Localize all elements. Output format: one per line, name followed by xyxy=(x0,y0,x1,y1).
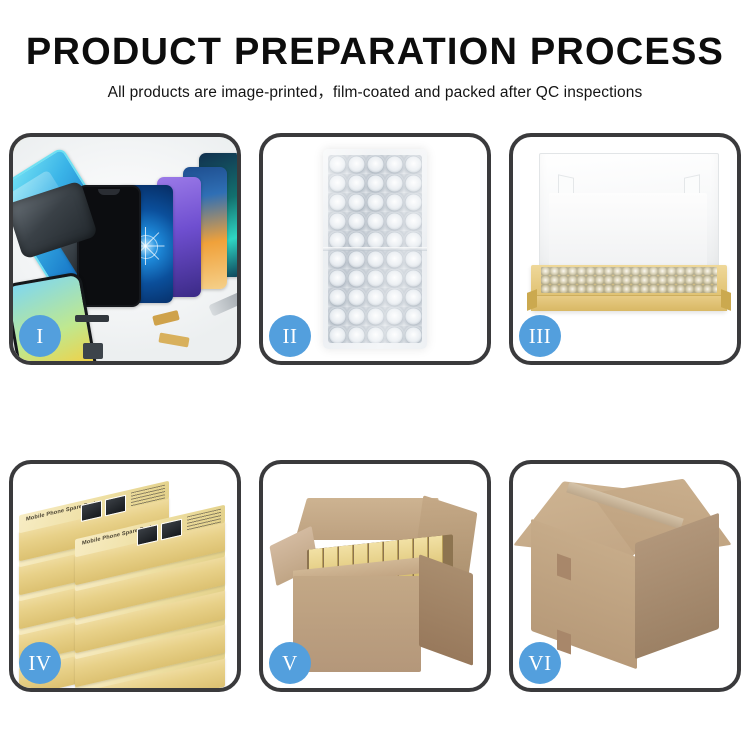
tray-front-lip xyxy=(531,295,727,311)
bubble-wrapped-contents xyxy=(541,267,717,293)
step-badge-2: II xyxy=(269,315,311,357)
page-subtitle: All products are image-printed，film-coat… xyxy=(0,82,750,104)
step-badge-5: V xyxy=(269,642,311,684)
box-screen-graphic-2 xyxy=(161,519,182,541)
bubble-wrap-package-icon xyxy=(323,149,427,349)
step-panel-6: VI xyxy=(509,460,741,692)
step-badge-6: VI xyxy=(519,642,561,684)
process-steps-grid: I II III xyxy=(9,133,741,692)
step-badge-3: III xyxy=(519,315,561,357)
speaker-strip-part-icon xyxy=(75,315,109,322)
step-panel-2: II xyxy=(259,133,491,365)
connector-part-icon xyxy=(83,343,103,359)
step-panel-1: I xyxy=(9,133,241,365)
tray-edge-right xyxy=(721,289,731,311)
packing-tape-front-upper xyxy=(557,553,571,580)
tray-edge-left xyxy=(527,289,537,311)
box-screen-graphic-2 xyxy=(105,495,126,517)
page-header: PRODUCT PREPARATION PROCESS All products… xyxy=(0,0,750,104)
step-badge-1: I xyxy=(19,315,61,357)
wrap-film-sheen xyxy=(323,149,427,349)
box-screen-graphic-1 xyxy=(81,500,102,522)
inner-box-tray-icon xyxy=(531,265,727,311)
step-panel-4: Mobile Phone Spare Parts Mobile Phone Sp… xyxy=(9,460,241,692)
box-screen-graphic-1 xyxy=(137,524,158,546)
step-panel-3: III xyxy=(509,133,741,365)
carton-side-face xyxy=(419,554,473,666)
foam-sheet-icon xyxy=(549,193,707,267)
carton-front-face xyxy=(293,576,421,672)
step-badge-4: IV xyxy=(19,642,61,684)
step-panel-5: V xyxy=(259,460,491,692)
packing-tape-front-lower xyxy=(557,629,571,654)
page-title: PRODUCT PREPARATION PROCESS xyxy=(0,30,750,74)
